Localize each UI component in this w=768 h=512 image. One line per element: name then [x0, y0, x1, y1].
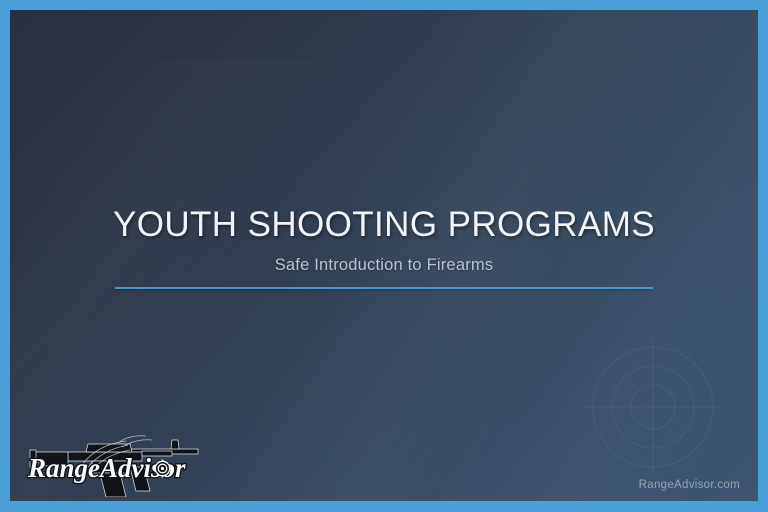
slide-title: YOUTH SHOOTING PROGRAMS [10, 206, 758, 245]
title-divider-rule [115, 287, 653, 289]
slide-subtitle: Safe Introduction to Firearms [10, 256, 758, 275]
crosshair-target-icon [582, 336, 724, 478]
presentation-slide: YOUTH SHOOTING PROGRAMS Safe Introductio… [0, 0, 768, 512]
footer-brand-url: RangeAdvisor.com [639, 479, 740, 491]
title-block: YOUTH SHOOTING PROGRAMS Safe Introductio… [10, 206, 758, 289]
slide-canvas: YOUTH SHOOTING PROGRAMS Safe Introductio… [10, 10, 758, 501]
rangeadvisor-logo: RangeAdvisor [22, 427, 204, 497]
